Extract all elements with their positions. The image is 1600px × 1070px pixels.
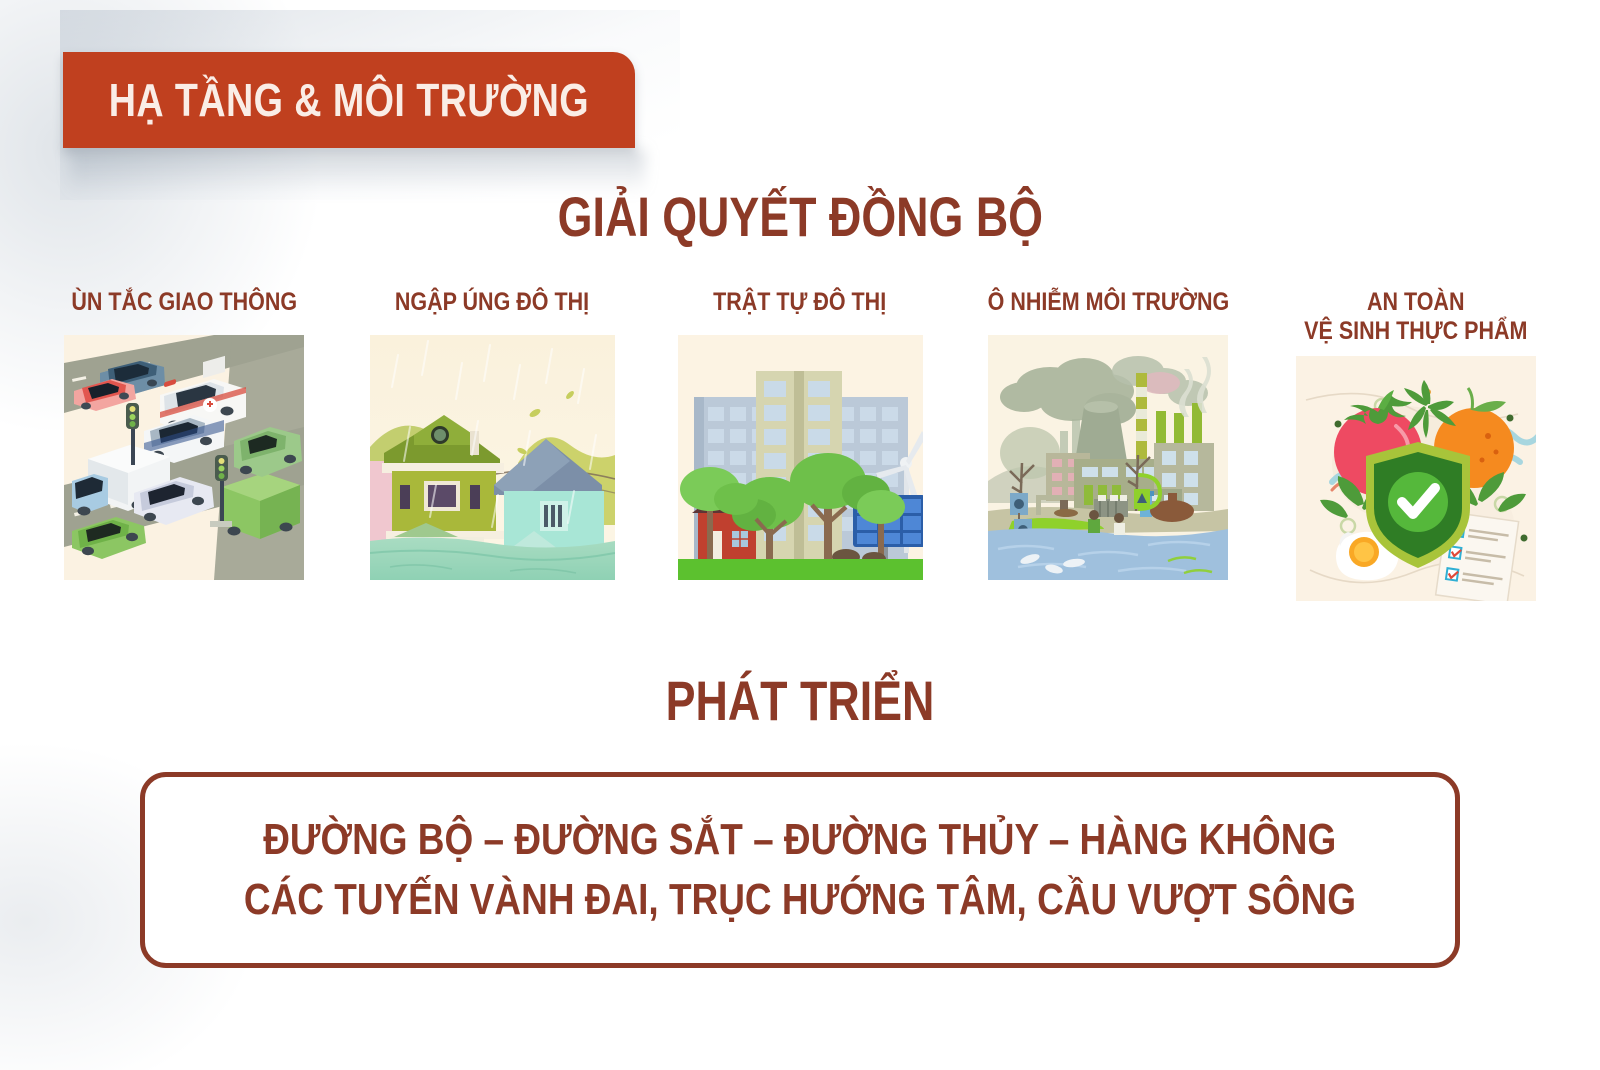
card-label: Ô NHIỄM MÔI TRƯỜNG	[968, 288, 1249, 317]
develop-line-2-text: CÁC TUYẾN VÀNH ĐAI, TRỤC HƯỚNG TÂM, CẦU …	[244, 877, 1356, 923]
environmental-pollution-illustration	[988, 335, 1228, 580]
card-label-line1: TRẬT TỰ ĐÔ THỊ	[713, 288, 886, 317]
food-safety-illustration	[1296, 356, 1536, 601]
develop-summary-box: ĐƯỜNG BỘ – ĐƯỜNG SẮT – ĐƯỜNG THỦY – HÀNG…	[140, 772, 1460, 968]
card-label-line1: ÙN TẮC GIAO THÔNG	[71, 288, 297, 317]
header-banner: HẠ TẦNG & MÔI TRƯỜNG	[63, 52, 635, 148]
card-label: AN TOÀN VỆ SINH THỰC PHẨM	[1286, 288, 1546, 346]
card-traffic-jam: ÙN TẮC GIAO THÔNG	[40, 288, 328, 580]
card-food-safety: AN TOÀN VỆ SINH THỰC PHẨM	[1272, 288, 1560, 601]
urban-order-illustration	[678, 335, 923, 580]
develop-line-1-text: ĐƯỜNG BỘ – ĐƯỜNG SẮT – ĐƯỜNG THỦY – HÀNG…	[263, 817, 1336, 863]
section-title-solve-text: GIẢI QUYẾT ĐỒNG BỘ	[557, 184, 1042, 249]
section-title-solve: GIẢI QUYẾT ĐỒNG BỘ	[0, 184, 1600, 249]
card-label-line1: NGẬP ÚNG ĐÔ THỊ	[395, 288, 589, 317]
card-urban-order: TRẬT TỰ ĐÔ THỊ	[656, 288, 944, 580]
header-banner-label: HẠ TẦNG & MÔI TRƯỜNG	[109, 77, 589, 123]
card-label-line1: Ô NHIỄM MÔI TRƯỜNG	[987, 288, 1229, 317]
develop-line-1: ĐƯỜNG BỘ – ĐƯỜNG SẮT – ĐƯỜNG THỦY – HÀNG…	[161, 817, 1438, 863]
section-title-develop-text: PHÁT TRIỂN	[666, 668, 935, 733]
card-label: TRẬT TỰ ĐÔ THỊ	[699, 288, 900, 317]
traffic-jam-illustration	[64, 335, 304, 580]
card-label-line2: VỆ SINH THỰC PHẨM	[1304, 317, 1527, 346]
develop-line-2: CÁC TUYẾN VÀNH ĐAI, TRỤC HƯỚNG TÂM, CẦU …	[138, 877, 1462, 923]
category-card-row: ÙN TẮC GIAO THÔNG	[40, 288, 1560, 628]
card-label-line1: AN TOÀN	[1367, 288, 1465, 317]
card-environmental-pollution: Ô NHIỄM MÔI TRƯỜNG	[964, 288, 1252, 580]
section-title-develop: PHÁT TRIỂN	[0, 668, 1600, 733]
card-urban-flooding: NGẬP ÚNG ĐÔ THỊ	[348, 288, 636, 580]
card-label: NGẬP ÚNG ĐÔ THỊ	[379, 288, 605, 317]
card-label: ÙN TẮC GIAO THÔNG	[53, 288, 316, 317]
urban-flooding-illustration	[370, 335, 615, 580]
